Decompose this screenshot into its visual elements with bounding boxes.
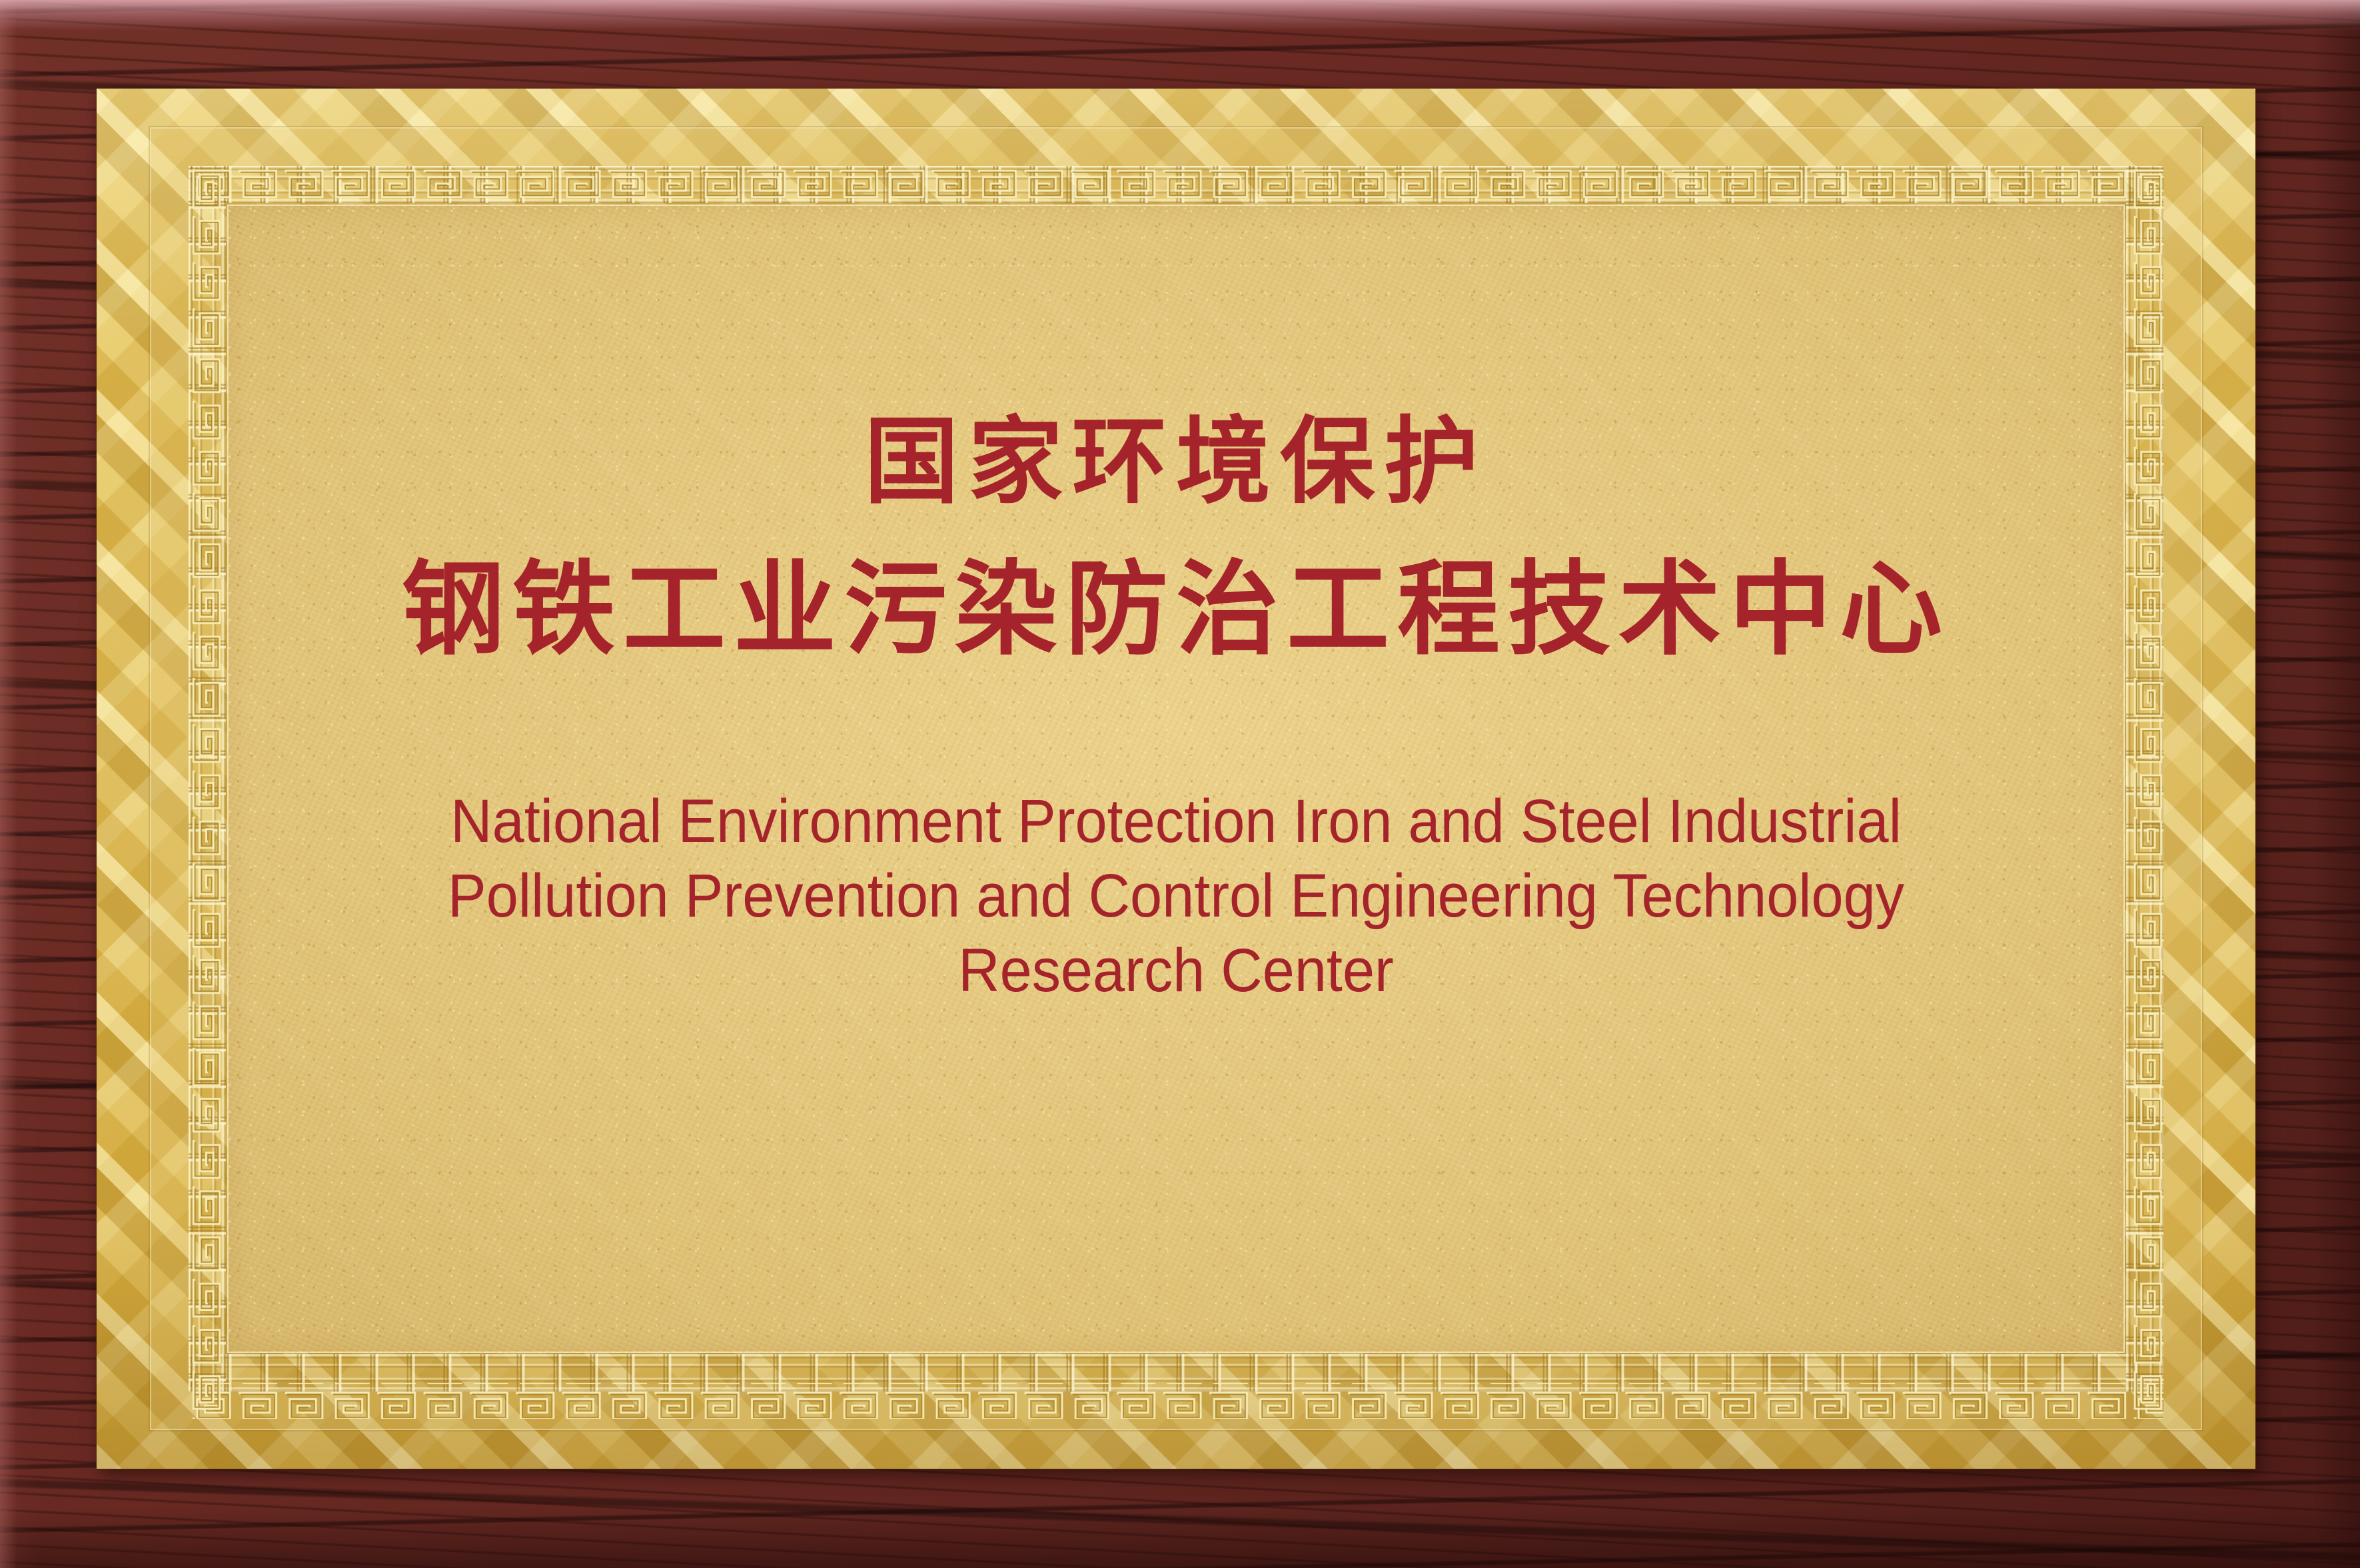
chinese-title-line-2: 钢铁工业污染防治工程技术中心 — [402, 559, 1950, 661]
meander-strip-left — [189, 166, 226, 1391]
english-subtitle: National Environment Protection Iron and… — [362, 784, 1990, 1008]
gold-plate: 国家环境保护 钢铁工业污染防治工程技术中心 National Environme… — [97, 89, 2255, 1469]
english-subtitle-line-3: Research Center — [362, 933, 1990, 1008]
english-subtitle-line-1: National Environment Protection Iron and… — [362, 784, 1990, 859]
english-subtitle-line-2: Pollution Prevention and Control Enginee… — [362, 859, 1990, 933]
award-plaque: 国家环境保护 钢铁工业污染防治工程技术中心 National Environme… — [0, 0, 2360, 1568]
meander-strip-right — [2126, 166, 2163, 1391]
meander-strip-top — [189, 166, 2163, 203]
inner-text-panel: 国家环境保护 钢铁工业污染防治工程技术中心 National Environme… — [227, 204, 2125, 1353]
meander-strip-bottom — [189, 1354, 2163, 1391]
chinese-title-line-1: 国家环境保护 — [864, 415, 1488, 510]
text-stack: 国家环境保护 钢铁工业污染防治工程技术中心 National Environme… — [227, 204, 2125, 1008]
